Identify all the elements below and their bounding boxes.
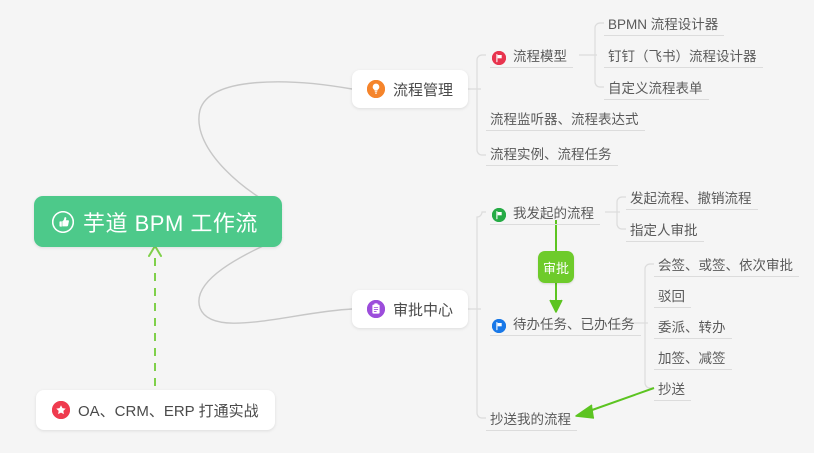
arrowhead-oa-to-root bbox=[149, 246, 161, 256]
node-reject[interactable]: 驳回 bbox=[654, 282, 691, 308]
node-my-initiated-process[interactable]: 我发起的流程 bbox=[490, 199, 600, 225]
node-bpmn-designer[interactable]: BPMN 流程设计器 bbox=[604, 10, 724, 36]
edge-my-initiated-trunk bbox=[617, 197, 626, 229]
node-delegate-transfer-label: 委派、转办 bbox=[658, 320, 726, 336]
flag-icon bbox=[492, 208, 506, 222]
branch-process-management[interactable]: 流程管理 bbox=[352, 70, 468, 108]
node-countersign-label: 会签、或签、依次审批 bbox=[658, 258, 793, 274]
floating-node-oa-crm-erp-label: OA、CRM、ERP 打通实战 bbox=[78, 400, 259, 421]
node-add-remove-sign[interactable]: 加签、减签 bbox=[654, 344, 732, 370]
node-process-instance-task-label: 流程实例、流程任务 bbox=[490, 147, 612, 163]
edge-process-model-trunk bbox=[595, 23, 604, 87]
node-custom-form-label: 自定义流程表单 bbox=[608, 81, 703, 97]
flag-icon bbox=[492, 51, 506, 65]
branch-approval-center-label: 审批中心 bbox=[393, 299, 453, 320]
node-process-model[interactable]: 流程模型 bbox=[490, 42, 573, 68]
root-label: 芋道 BPM 工作流 bbox=[83, 206, 258, 238]
node-start-cancel-process-label: 发起流程、撤销流程 bbox=[630, 191, 752, 207]
flag-icon bbox=[492, 319, 506, 333]
edge-root-to-approval-center bbox=[199, 237, 352, 323]
node-my-initiated-process-label: 我发起的流程 bbox=[513, 206, 594, 222]
node-todo-done-tasks-label: 待办任务、已办任务 bbox=[513, 317, 635, 333]
node-cc-my-process[interactable]: 抄送我的流程 bbox=[486, 405, 577, 431]
node-assignee-approval[interactable]: 指定人审批 bbox=[626, 216, 704, 242]
node-cc[interactable]: 抄送 bbox=[654, 375, 691, 401]
branch-process-management-label: 流程管理 bbox=[393, 79, 453, 100]
edge-todo-done-trunk bbox=[645, 264, 654, 388]
node-process-listener-expression-label: 流程监听器、流程表达式 bbox=[490, 112, 639, 128]
node-process-listener-expression[interactable]: 流程监听器、流程表达式 bbox=[486, 105, 645, 131]
node-start-cancel-process[interactable]: 发起流程、撤销流程 bbox=[626, 184, 758, 210]
node-reject-label: 驳回 bbox=[658, 289, 685, 305]
annotation-approval-pill-label: 审批 bbox=[543, 258, 569, 277]
node-custom-form[interactable]: 自定义流程表单 bbox=[604, 74, 709, 100]
edge-cc-to-cc-my-process bbox=[578, 388, 654, 415]
node-delegate-transfer[interactable]: 委派、转办 bbox=[654, 313, 732, 339]
node-cc-label: 抄送 bbox=[658, 382, 685, 398]
edge-approval-center-trunk bbox=[477, 212, 486, 418]
node-assignee-approval-label: 指定人审批 bbox=[630, 223, 698, 239]
star-icon bbox=[52, 401, 70, 419]
node-add-remove-sign-label: 加签、减签 bbox=[658, 351, 726, 367]
mindmap-canvas: 芋道 BPM 工作流 流程管理 流程模型 BPMN 流程设计器 钉钉（飞书）流程 bbox=[0, 0, 814, 453]
edge-process-management-trunk bbox=[477, 55, 486, 155]
floating-node-oa-crm-erp[interactable]: OA、CRM、ERP 打通实战 bbox=[36, 390, 275, 430]
edge-root-to-process-management bbox=[199, 82, 352, 210]
node-process-model-label: 流程模型 bbox=[513, 49, 567, 65]
root-node[interactable]: 芋道 BPM 工作流 bbox=[34, 196, 282, 247]
node-dingtalk-feishu-designer-label: 钉钉（飞书）流程设计器 bbox=[608, 49, 757, 65]
node-process-instance-task[interactable]: 流程实例、流程任务 bbox=[486, 140, 618, 166]
node-dingtalk-feishu-designer[interactable]: 钉钉（飞书）流程设计器 bbox=[604, 42, 763, 68]
annotation-approval-pill[interactable]: 审批 bbox=[538, 251, 574, 283]
node-bpmn-designer-label: BPMN 流程设计器 bbox=[608, 17, 718, 33]
node-countersign[interactable]: 会签、或签、依次审批 bbox=[654, 251, 799, 277]
node-todo-done-tasks[interactable]: 待办任务、已办任务 bbox=[490, 310, 641, 336]
arrowhead-cc-to-cc-my-process bbox=[576, 405, 594, 418]
branch-approval-center[interactable]: 审批中心 bbox=[352, 290, 468, 328]
thumbs-up-icon bbox=[52, 211, 74, 233]
node-cc-my-process-label: 抄送我的流程 bbox=[490, 412, 571, 428]
lightbulb-icon bbox=[367, 80, 385, 98]
clipboard-icon bbox=[367, 300, 385, 318]
